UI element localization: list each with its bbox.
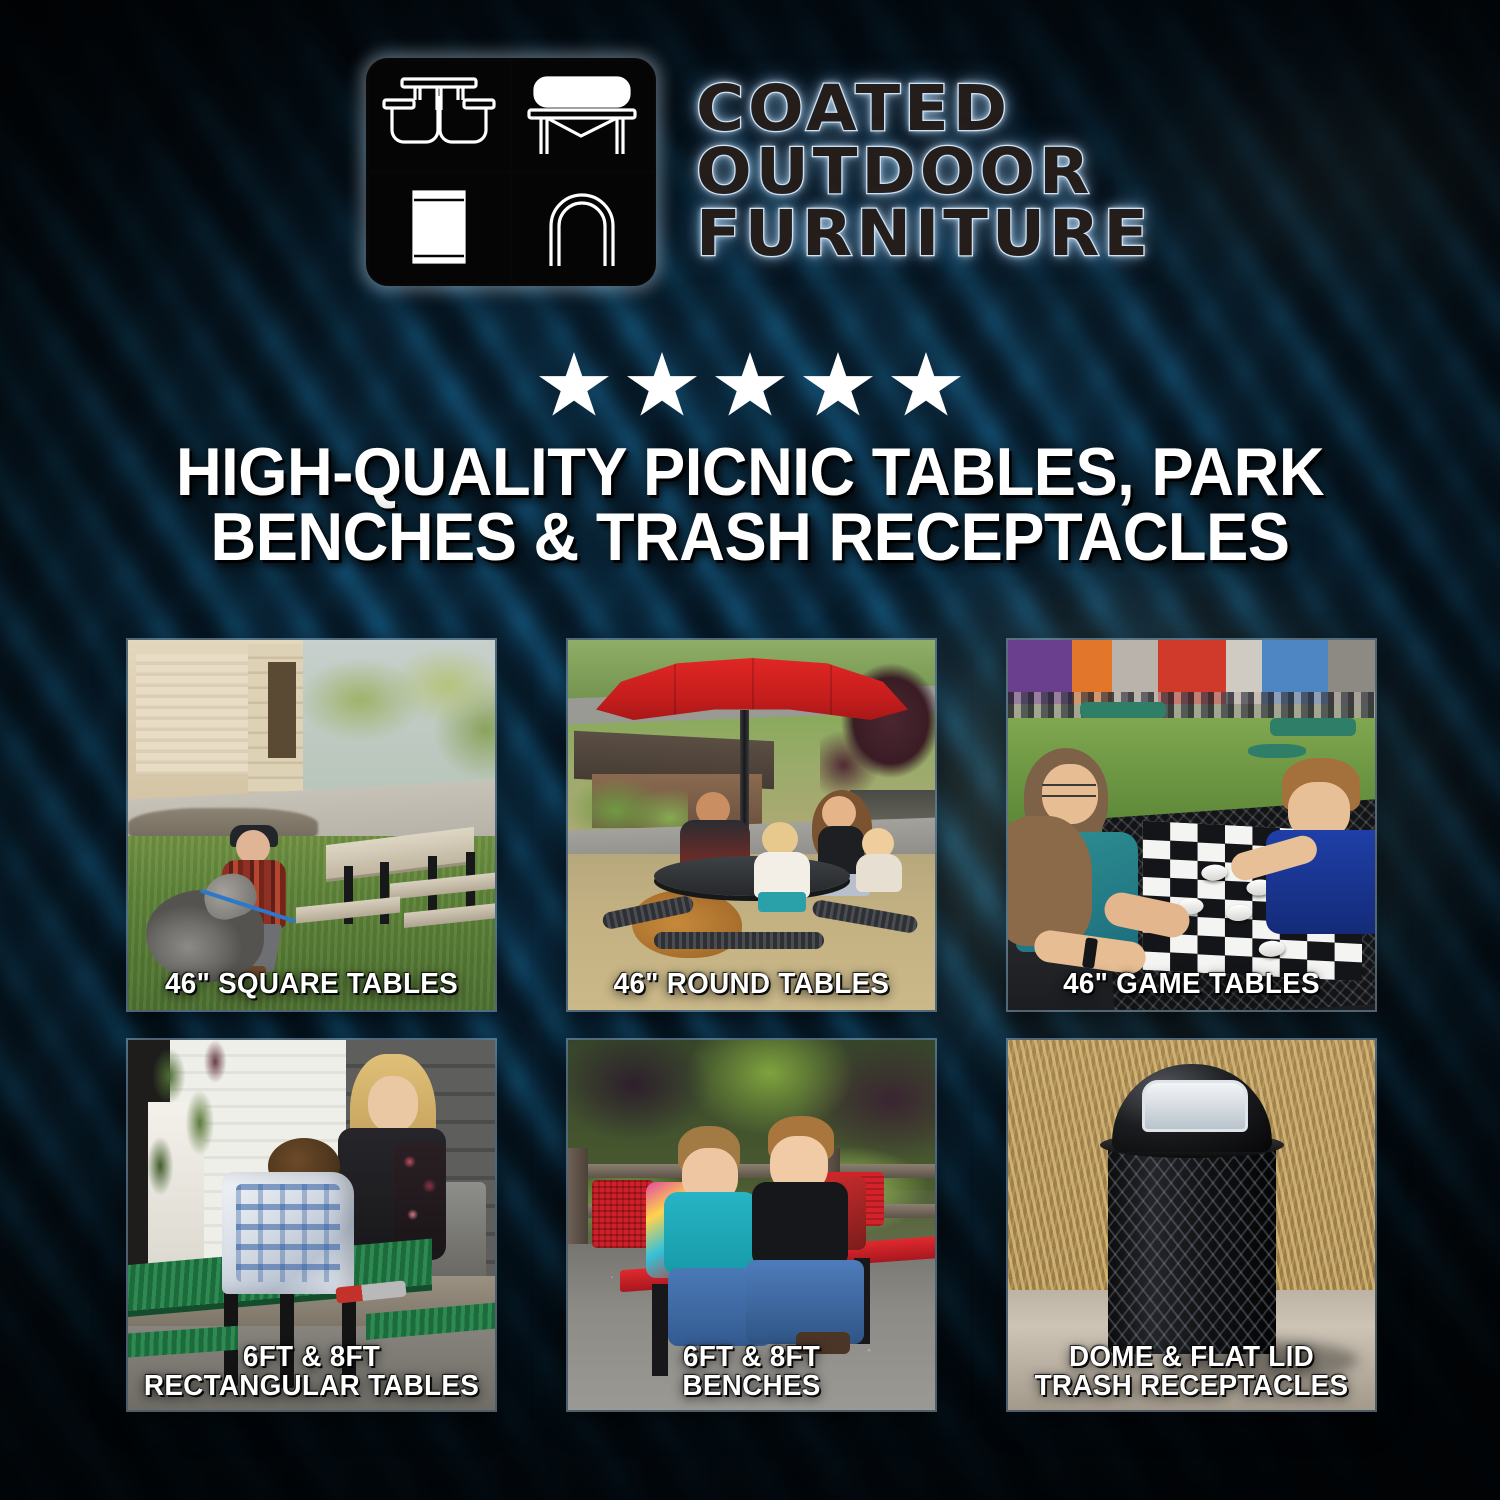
product-photo-game-tables	[1008, 640, 1375, 1010]
brand-wordmark: COATED OUTDOOR FURNITURE	[696, 79, 1135, 264]
star-icon-1	[539, 352, 609, 420]
star-icon-3	[715, 352, 785, 420]
bike-rack-icon	[512, 174, 653, 284]
star-icon-5	[891, 352, 961, 420]
headline-line-2: BENCHES & TRASH RECEPTACLES	[53, 505, 1448, 570]
caption-line-1: 46" GAME TABLES	[1015, 970, 1367, 1000]
product-tile-square-tables[interactable]: 46" SQUARE TABLES	[128, 640, 495, 1010]
headline-line-1: HIGH-QUALITY PICNIC TABLES, PARK	[53, 440, 1448, 505]
wordmark-line-2: OUTDOOR	[696, 142, 1093, 202]
product-caption: 46" GAME TABLES	[1015, 970, 1367, 1000]
caption-line-1: 46" SQUARE TABLES	[135, 970, 487, 1000]
caption-line-1: 6FT & 8FT	[575, 1343, 927, 1373]
caption-line-1: 46" ROUND TABLES	[575, 970, 927, 1000]
product-row-bottom: 6FT & 8FT RECTANGULAR TABLES	[128, 1040, 1376, 1410]
product-tile-benches[interactable]: 6FT & 8FT BENCHES	[568, 1040, 935, 1410]
product-photo-round-tables	[568, 640, 935, 1010]
product-tile-game-tables[interactable]: 46" GAME TABLES	[1008, 640, 1375, 1010]
wordmark-line-3: FURNITURE	[696, 204, 1152, 264]
product-grid: 46" SQUARE TABLES	[128, 640, 1376, 1410]
caption-line-2: TRASH RECEPTACLES	[1015, 1372, 1367, 1402]
product-photo-square-tables	[128, 640, 495, 1010]
product-tile-round-tables[interactable]: 46" ROUND TABLES	[568, 640, 935, 1010]
headline: HIGH-QUALITY PICNIC TABLES, PARK BENCHES…	[53, 440, 1448, 569]
bench-icon	[512, 61, 653, 171]
star-icon-2	[627, 352, 697, 420]
brand-header: COATED OUTDOOR FURNITURE	[0, 58, 1500, 286]
product-caption: 46" SQUARE TABLES	[135, 970, 487, 1000]
promo-banner: COATED OUTDOOR FURNITURE HIGH-QUALITY PI…	[0, 0, 1500, 1500]
caption-line-1: 6FT & 8FT	[135, 1343, 487, 1373]
product-row-top: 46" SQUARE TABLES	[128, 640, 1376, 1010]
product-tile-rectangular-tables[interactable]: 6FT & 8FT RECTANGULAR TABLES	[128, 1040, 495, 1410]
brand-logo-mark	[366, 58, 656, 286]
wordmark-line-1: COATED	[696, 79, 1011, 139]
caption-line-2: BENCHES	[575, 1372, 927, 1402]
product-caption: 6FT & 8FT BENCHES	[575, 1343, 927, 1402]
caption-line-1: DOME & FLAT LID	[1015, 1343, 1367, 1373]
trash-receptacle-icon	[369, 174, 510, 284]
product-caption: 6FT & 8FT RECTANGULAR TABLES	[135, 1343, 487, 1402]
star-icon-4	[803, 352, 873, 420]
product-caption: DOME & FLAT LID TRASH RECEPTACLES	[1015, 1343, 1367, 1402]
picnic-table-icon	[369, 61, 510, 171]
caption-line-2: RECTANGULAR TABLES	[135, 1372, 487, 1402]
product-caption: 46" ROUND TABLES	[575, 970, 927, 1000]
star-rating	[0, 352, 1500, 420]
product-tile-trash-receptacles[interactable]: DOME & FLAT LID TRASH RECEPTACLES	[1008, 1040, 1375, 1410]
